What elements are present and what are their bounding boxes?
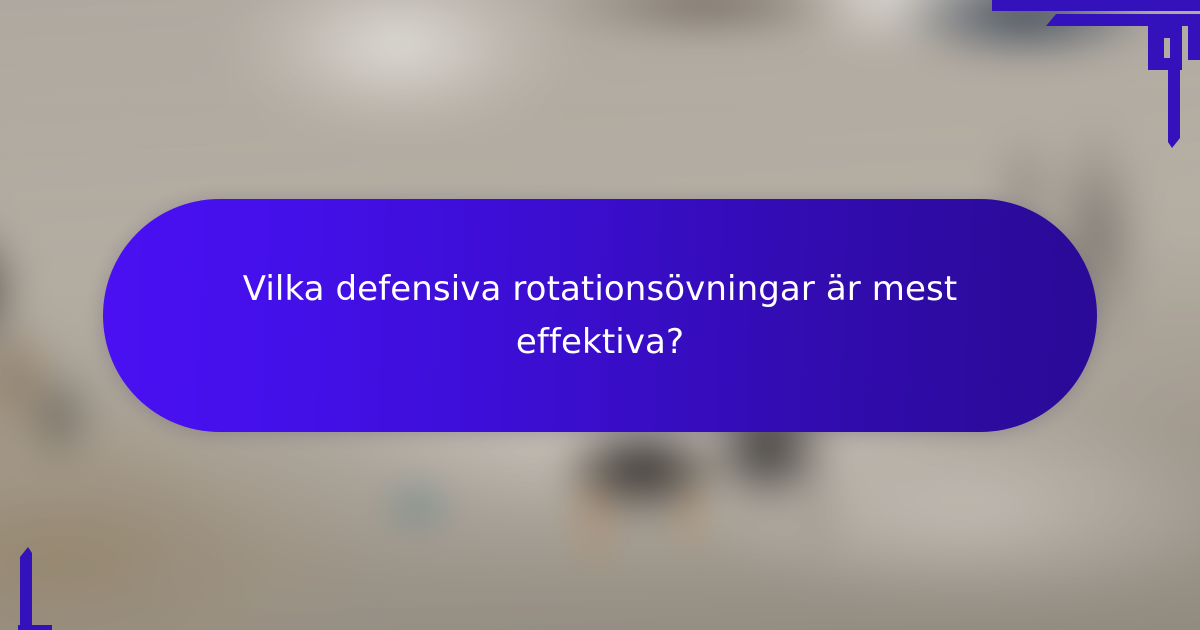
- headline-card: Vilka defensiva rotationsövningar är mes…: [103, 199, 1097, 432]
- card-title: Vilka defensiva rotationsövningar är mes…: [134, 263, 1066, 368]
- social-card-canvas: Vilka defensiva rotationsövningar är mes…: [0, 0, 1200, 630]
